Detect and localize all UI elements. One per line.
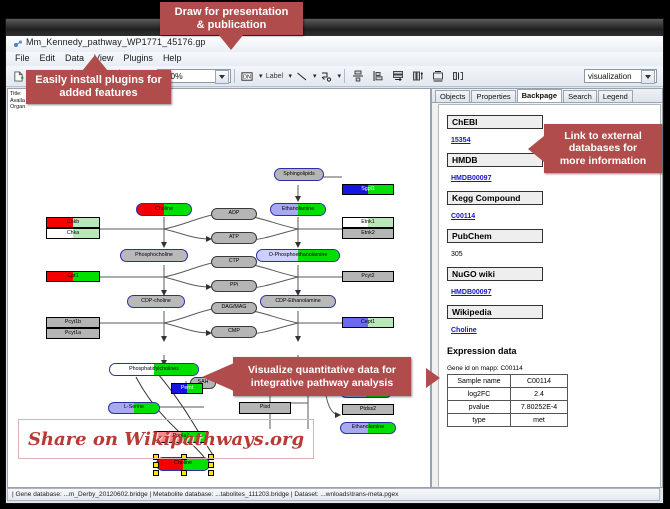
menu-item-edit[interactable]: Edit [35, 52, 61, 64]
callout-share-text: Share on Wikipathways.org [28, 429, 304, 450]
node-ethanolamine-bottom[interactable]: Ethanolamine [340, 422, 396, 434]
align-left-icon[interactable] [368, 67, 387, 86]
callout-links: Link to external databases for more info… [544, 124, 662, 173]
node-l-serine-left[interactable]: L-Serine [108, 402, 160, 414]
node-label: CTP [229, 259, 240, 264]
tab-backpage[interactable]: Backpage [517, 89, 562, 102]
visualization-combobox[interactable]: visualization [584, 69, 657, 83]
callout-plugins: Easily install plugins for added feature… [26, 70, 171, 104]
node-label: PPi [230, 283, 238, 288]
side-panel-tabs: Objects Properties Backpage Search Legen… [432, 89, 662, 103]
node-ethanolamine-top[interactable]: Ethanolamine [270, 203, 326, 216]
gene-label: Cept1 [361, 320, 375, 325]
window-titlebar[interactable] [6, 19, 663, 37]
interaction-tool-icon[interactable] [317, 67, 336, 86]
common-width-icon[interactable] [428, 67, 447, 86]
gene-label: Etnk1 [361, 220, 375, 225]
status-bar: | Gene database: ...m_Derby_20120602.bri… [7, 488, 660, 501]
node-label: Phosphatidylcholines [129, 367, 179, 372]
window-title: Mm_Kennedy_pathway_WP1771_45176.gp [26, 37, 206, 47]
visualization-value: visualization [588, 72, 632, 81]
node-phosphocholine[interactable]: Phosphocholine [120, 249, 188, 262]
db-value-pubchem: 305 [451, 251, 463, 258]
node-label: CDP-Ethanolamine [275, 299, 320, 304]
gene-pcyt2[interactable]: Pcyt2 [342, 271, 394, 282]
node-label: Phosphocholine [135, 253, 173, 258]
table-cell-label: pvalue [448, 401, 511, 414]
table-cell-label: Sample name [448, 375, 511, 388]
node-sphingolipids[interactable]: Sphingolipids [274, 168, 324, 181]
callout-links-line3: more information [560, 155, 646, 167]
callout-visualize-line2: integrative pathway analysis [251, 377, 393, 389]
node-label: Sphingolipids [283, 172, 315, 177]
gene-ptdss2[interactable]: Ptdss2 [342, 404, 394, 415]
toolbar-separator-3 [234, 69, 235, 83]
callout-plugins-line1: Easily install plugins for [35, 74, 162, 87]
node-label: L-Serine [124, 405, 144, 410]
node-phosphatidylcholines[interactable]: Phosphatidylcholines [109, 363, 199, 376]
toolbar-separator-4 [344, 69, 345, 83]
menu-item-plugins[interactable]: Plugins [118, 52, 158, 64]
gene-etnk2[interactable]: Etnk2 [342, 228, 394, 239]
node-label: CMP [228, 329, 240, 334]
gene-chka[interactable]: Chka [46, 228, 100, 239]
callout-visualize-arrow-left-icon [202, 363, 234, 391]
node-label: Choline [174, 461, 192, 466]
label-tool-text: Label [266, 73, 283, 80]
table-cell-value: 2.4 [511, 388, 568, 401]
tab-properties[interactable]: Properties [471, 90, 515, 102]
gene-id-line: Gene id on mapp: C00114 [447, 365, 656, 372]
gene-chkb[interactable]: Chkb [46, 217, 100, 228]
node-label: Choline [155, 207, 173, 212]
gene-label: Cpt1 [67, 274, 78, 279]
table-row: Sample name C00114 [448, 375, 568, 388]
table-cell-label: type [448, 414, 511, 427]
node-cdp-ethanolamine[interactable]: CDP-Ethanolamine [260, 295, 336, 308]
status-bar-text: | Gene database: ...m_Derby_20120602.bri… [12, 491, 398, 498]
interaction-dropdown-icon[interactable]: ▾ [338, 72, 342, 80]
node-atp[interactable]: ATP [211, 232, 257, 244]
node-o-phosphoethanolamine[interactable]: O-Phosphoethanolamine [256, 249, 340, 262]
table-cell-value: C00114 [511, 375, 568, 388]
callout-draw-arrow-down-icon [218, 34, 244, 50]
node-label: DAG/MAG [221, 305, 246, 310]
gene-label: Pcyt1a [65, 331, 81, 336]
gene-cept1[interactable]: Cept1 [342, 317, 394, 328]
node-label: O-Phosphoethanolamine [269, 253, 328, 258]
gene-pcyt1a[interactable]: Pcyt1a [46, 328, 100, 339]
visualization-chevron-down-icon[interactable] [641, 70, 655, 84]
db-link-wikipedia[interactable]: Choline [451, 327, 477, 334]
gene-label: Chkb [67, 220, 79, 225]
callout-plugins-line2: added features [59, 87, 137, 100]
gene-label: Pcyt2 [361, 274, 374, 279]
db-header-chebi: ChEBI [447, 115, 543, 129]
db-header-pubchem: PubChem [447, 229, 543, 243]
node-choline-top[interactable]: Choline [136, 203, 192, 216]
db-link-chebi[interactable]: 15354 [451, 137, 470, 144]
label-tool-icon[interactable]: Label [262, 67, 286, 86]
table-row: log2FC 2.4 [448, 388, 568, 401]
db-header-wikipedia: Wikipedia [447, 305, 543, 319]
node-ctp[interactable]: CTP [211, 256, 257, 268]
node-label: Ethanolamine [282, 207, 314, 212]
align-top-icon[interactable] [348, 67, 367, 86]
db-link-nugo-wiki[interactable]: HMDB00097 [451, 289, 491, 296]
chevron-down-icon[interactable] [215, 70, 229, 84]
resize-handle-se[interactable] [208, 470, 214, 476]
db-link-kegg-compound[interactable]: C00114 [451, 213, 475, 220]
table-row: type met [448, 414, 568, 427]
gene-etnk1[interactable]: Etnk1 [342, 217, 394, 228]
node-adp[interactable]: ADP [211, 208, 257, 220]
screenshot-root: Mm_Kennedy_pathway_WP1771_45176.gp File … [0, 0, 670, 509]
svg-text:DN: DN [243, 74, 251, 80]
gene-label: Sgpl1 [361, 187, 375, 192]
table-cell-value: met [511, 414, 568, 427]
gene-pcyt1b[interactable]: Pcyt1b [46, 317, 100, 328]
tab-search[interactable]: Search [563, 90, 597, 102]
db-header-nugo-wiki: NuGO wiki [447, 267, 543, 281]
app-icon [13, 39, 23, 49]
callout-draw-line1: Draw for presentation [175, 6, 289, 19]
resize-handle-e[interactable] [208, 462, 214, 468]
callout-links-arrow-left-icon [528, 136, 544, 162]
gene-label: Etnk2 [361, 231, 375, 236]
callout-links-line2: databases for [569, 142, 637, 154]
table-cell-label: log2FC [448, 388, 511, 401]
expression-data-heading: Expression data [447, 346, 656, 356]
callout-plugins-arrow-up-icon [82, 55, 108, 71]
table-row: pvalue 7.80252E-4 [448, 401, 568, 414]
distribute-horizontal-icon[interactable] [408, 67, 427, 86]
gene-label: Chka [67, 231, 79, 236]
gene-label: Pcyt1b [65, 320, 81, 325]
db-header-kegg-compound: Kegg Compound [447, 191, 543, 205]
gene-label: Pemt [181, 386, 193, 391]
callout-visualize: Visualize quantitative data for integrat… [233, 357, 411, 396]
menu-item-help[interactable]: Help [158, 52, 187, 64]
callout-visualize-arrow-left-icon-2 [426, 368, 440, 388]
table-cell-value: 7.80252E-4 [511, 401, 568, 414]
data-node-tool-icon[interactable]: DN [238, 67, 257, 86]
node-cdp-choline[interactable]: CDP-choline [127, 295, 185, 308]
line-dropdown-icon[interactable]: ▾ [313, 72, 317, 80]
node-label: Ethanolamine [352, 425, 384, 430]
node-label: ATP [229, 235, 239, 240]
callout-visualize-line1: Visualize quantitative data for [248, 364, 396, 376]
titlebar-gradient [6, 19, 663, 36]
line-tool-icon[interactable] [292, 67, 311, 86]
gene-sgpl1[interactable]: Sgpl1 [342, 184, 394, 195]
node-label: CDP-choline [141, 299, 171, 304]
gene-pisd[interactable]: Pisd [239, 402, 291, 414]
tab-objects[interactable]: Objects [435, 90, 470, 102]
callout-share-box: Share on Wikipathways.org [18, 419, 314, 459]
gene-label: Pisd [260, 405, 270, 410]
gene-cpt1[interactable]: Cpt1 [46, 271, 100, 282]
common-height-icon[interactable] [448, 67, 467, 86]
resize-handle-w[interactable] [153, 462, 159, 468]
callout-links-line1: Link to external [564, 130, 642, 142]
gene-label: Ptdss2 [360, 407, 376, 412]
node-dagmag[interactable]: DAG/MAG [211, 302, 257, 314]
tab-legend[interactable]: Legend [598, 90, 633, 102]
expression-table: Sample name C00114 log2FC 2.4 pvalue 7.8… [447, 374, 568, 427]
resize-handle-s[interactable] [181, 470, 187, 476]
stack-vertical-icon[interactable] [388, 67, 407, 86]
resize-handle-sw[interactable] [153, 470, 159, 476]
node-cmp[interactable]: CMP [211, 326, 257, 338]
db-link-hmdb[interactable]: HMDB00097 [451, 175, 491, 182]
node-label: ADP [229, 211, 240, 216]
callout-draw: Draw for presentation & publication [160, 2, 303, 35]
node-ppi[interactable]: PPi [211, 280, 257, 292]
callout-draw-line2: & publication [197, 19, 267, 32]
menu-item-file[interactable]: File [10, 52, 35, 64]
